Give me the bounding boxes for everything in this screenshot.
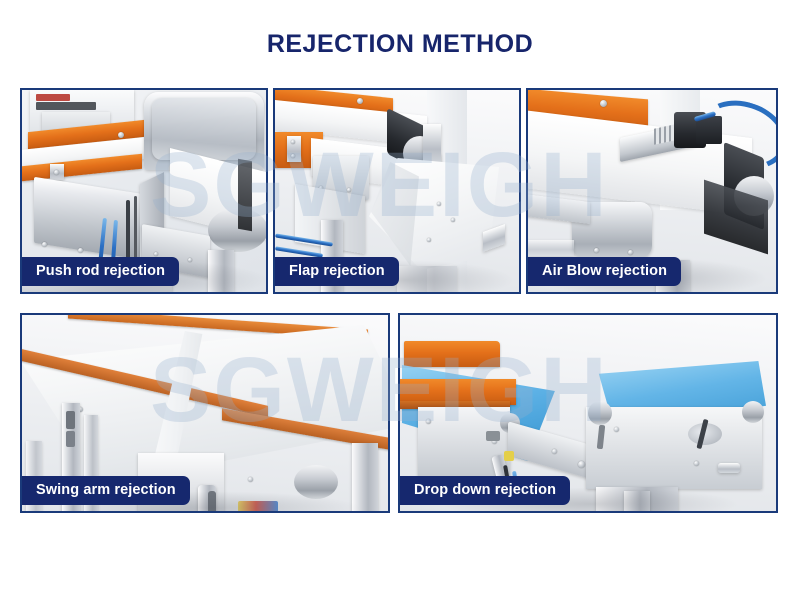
panel-flap[interactable]: Flap rejection — [273, 88, 521, 294]
panel-air-blow[interactable]: Air Blow rejection — [526, 88, 778, 294]
panel-push-rod-label: Push rod rejection — [22, 257, 179, 286]
panel-air-blow-label: Air Blow rejection — [528, 257, 681, 286]
page-root: REJECTION METHOD — [0, 0, 800, 594]
panel-drop-down-label: Drop down rejection — [400, 476, 570, 505]
panel-flap-label: Flap rejection — [275, 257, 399, 286]
panel-push-rod[interactable]: Push rod rejection — [20, 88, 268, 294]
panel-swing-arm[interactable]: Swing arm rejection — [20, 313, 390, 513]
panel-drop-down[interactable]: Drop down rejection — [398, 313, 778, 513]
page-title: REJECTION METHOD — [0, 30, 800, 59]
panel-swing-arm-label: Swing arm rejection — [22, 476, 190, 505]
